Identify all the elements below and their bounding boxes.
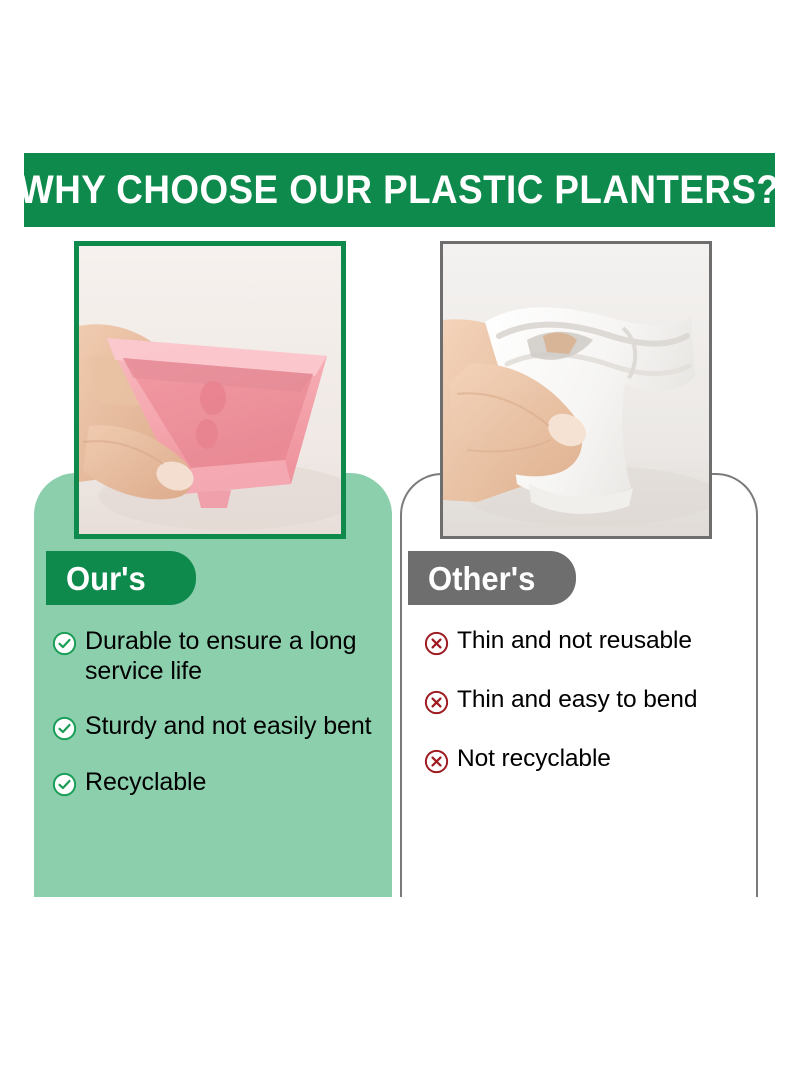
pink-planter-illustration [79,246,341,534]
others-feature-list: Thin and not reusable Thin and easy to b… [424,627,764,804]
others-label-text: Other's [428,562,535,595]
list-item-text: Recyclable [85,768,206,798]
comparison-section: Our's Durable to ensure a long service l… [0,227,800,927]
list-item-text: Durable to ensure a long service life [85,627,384,686]
list-item-text: Not recyclable [457,745,611,774]
ours-product-photo [74,241,346,539]
list-item-text: Thin and easy to bend [457,686,697,715]
cross-circle-icon [424,749,449,774]
others-product-photo [440,241,712,539]
ours-feature-list: Durable to ensure a long service life St… [52,627,384,823]
page-title: WHY CHOOSE OUR PLASTIC PLANTERS? [19,170,779,210]
list-item-text: Thin and not reusable [457,627,692,656]
list-item: Not recyclable [424,745,764,774]
header-banner: WHY CHOOSE OUR PLASTIC PLANTERS? [24,153,775,227]
comparison-column-others: Other's Thin and not reusable [400,227,760,927]
check-circle-icon [52,716,77,741]
ours-label-text: Our's [66,562,146,595]
check-circle-icon [52,631,77,656]
white-pot-illustration [443,244,709,536]
list-item: Thin and not reusable [424,627,764,656]
others-photo-inner [443,244,709,536]
list-item-text: Sturdy and not easily bent [85,712,371,742]
list-item: Durable to ensure a long service life [52,627,384,686]
list-item: Thin and easy to bend [424,686,764,715]
check-circle-icon [52,772,77,797]
comparison-column-ours: Our's Durable to ensure a long service l… [34,227,394,927]
list-item: Recyclable [52,768,384,798]
others-label-tab: Other's [408,551,576,605]
cross-circle-icon [424,631,449,656]
ours-photo-inner [79,246,341,534]
ours-label-tab: Our's [46,551,196,605]
cross-circle-icon [424,690,449,715]
list-item: Sturdy and not easily bent [52,712,384,742]
